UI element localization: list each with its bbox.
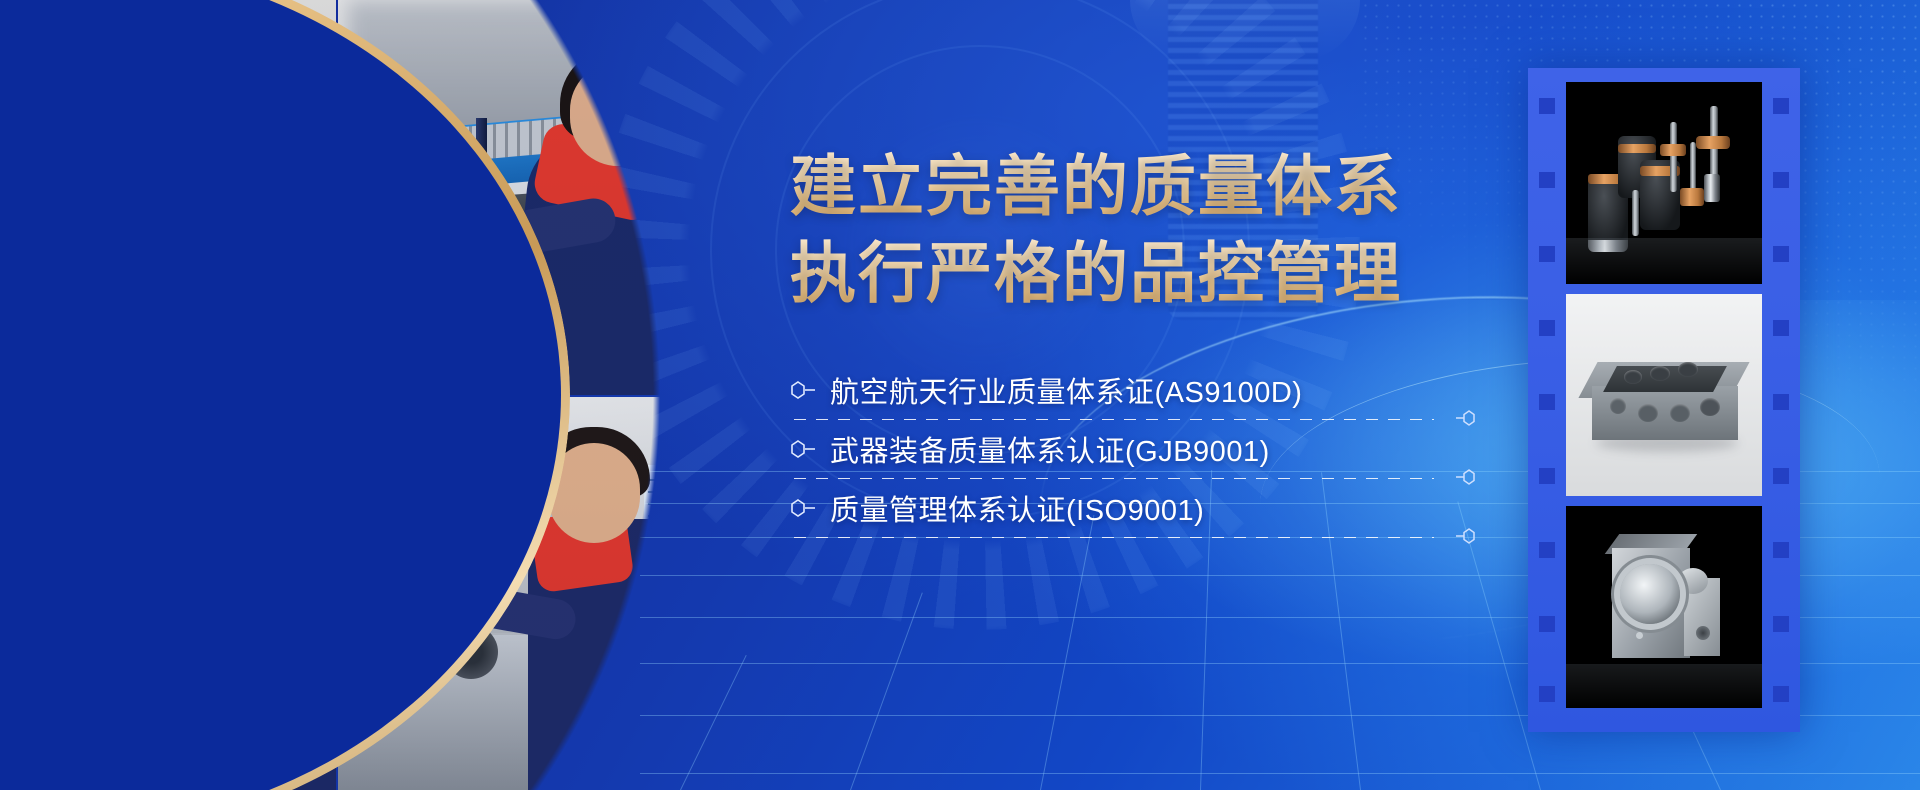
list-item: 武器装备质量体系认证(GJB9001) bbox=[790, 420, 1450, 478]
film-perforation bbox=[1539, 98, 1555, 114]
film-perforation bbox=[1773, 394, 1789, 410]
hexagon-bullet-icon bbox=[790, 381, 816, 399]
certification-label: 质量管理体系认证(ISO9001) bbox=[830, 487, 1204, 529]
hexagon-bullet-icon bbox=[790, 440, 816, 458]
film-perforation bbox=[1773, 320, 1789, 336]
banner-content: 建立完善的质量体系 执行严格的品控管理 航空航天行业质量体系证(AS9100D) bbox=[790, 150, 1510, 538]
film-perforation bbox=[1539, 468, 1555, 484]
film-perforation bbox=[1773, 468, 1789, 484]
quality-system-banner: 建立完善的质量体系 执行严格的品控管理 航空航天行业质量体系证(AS9100D) bbox=[0, 0, 1920, 790]
certification-label: 航空航天行业质量体系证(AS9100D) bbox=[830, 369, 1302, 411]
film-perforation bbox=[1773, 98, 1789, 114]
certification-label: 武器装备质量体系认证(GJB9001) bbox=[830, 428, 1270, 470]
hexagon-endpoint-icon bbox=[1456, 528, 1478, 544]
film-perforation bbox=[1539, 394, 1555, 410]
film-perforation bbox=[1773, 542, 1789, 558]
photo-collage bbox=[0, 0, 690, 790]
hexagon-endpoint-icon bbox=[1456, 469, 1478, 485]
certification-list: 航空航天行业质量体系证(AS9100D) 武器装备质量体系认证 bbox=[790, 361, 1450, 538]
film-perforation bbox=[1539, 320, 1555, 336]
hexagon-endpoint-icon bbox=[1456, 410, 1478, 426]
film-perforation bbox=[1773, 686, 1789, 702]
film-perforation bbox=[1539, 616, 1555, 632]
photo-inspector-with-height-gauge bbox=[0, 0, 336, 395]
product-filmstrip bbox=[1528, 68, 1800, 732]
film-perforation bbox=[1539, 542, 1555, 558]
product-photo-bearing-block-assembly bbox=[1566, 506, 1762, 708]
film-perforation bbox=[1539, 686, 1555, 702]
film-perforation bbox=[1539, 246, 1555, 262]
photo-technician-measuring-parts-at-bench bbox=[338, 0, 690, 395]
list-item: 质量管理体系认证(ISO9001) bbox=[790, 479, 1450, 537]
film-perforation bbox=[1773, 616, 1789, 632]
photo-operator-at-cnc-machining-center bbox=[338, 397, 690, 790]
list-item: 航空航天行业质量体系证(AS9100D) bbox=[790, 361, 1450, 419]
hexagon-bullet-icon bbox=[790, 499, 816, 517]
photo-engineer-operating-cmm-machine bbox=[0, 397, 336, 790]
film-perforation bbox=[1773, 172, 1789, 188]
product-photo-machined-aluminium-housing bbox=[1566, 294, 1762, 496]
film-perforation bbox=[1773, 246, 1789, 262]
page-title-line-2: 执行严格的品控管理 bbox=[790, 237, 1510, 310]
page-title-line-1: 建立完善的质量体系 bbox=[790, 150, 1510, 223]
film-perforation bbox=[1539, 172, 1555, 188]
product-photo-precision-turned-components bbox=[1566, 82, 1762, 284]
divider bbox=[794, 537, 1434, 538]
